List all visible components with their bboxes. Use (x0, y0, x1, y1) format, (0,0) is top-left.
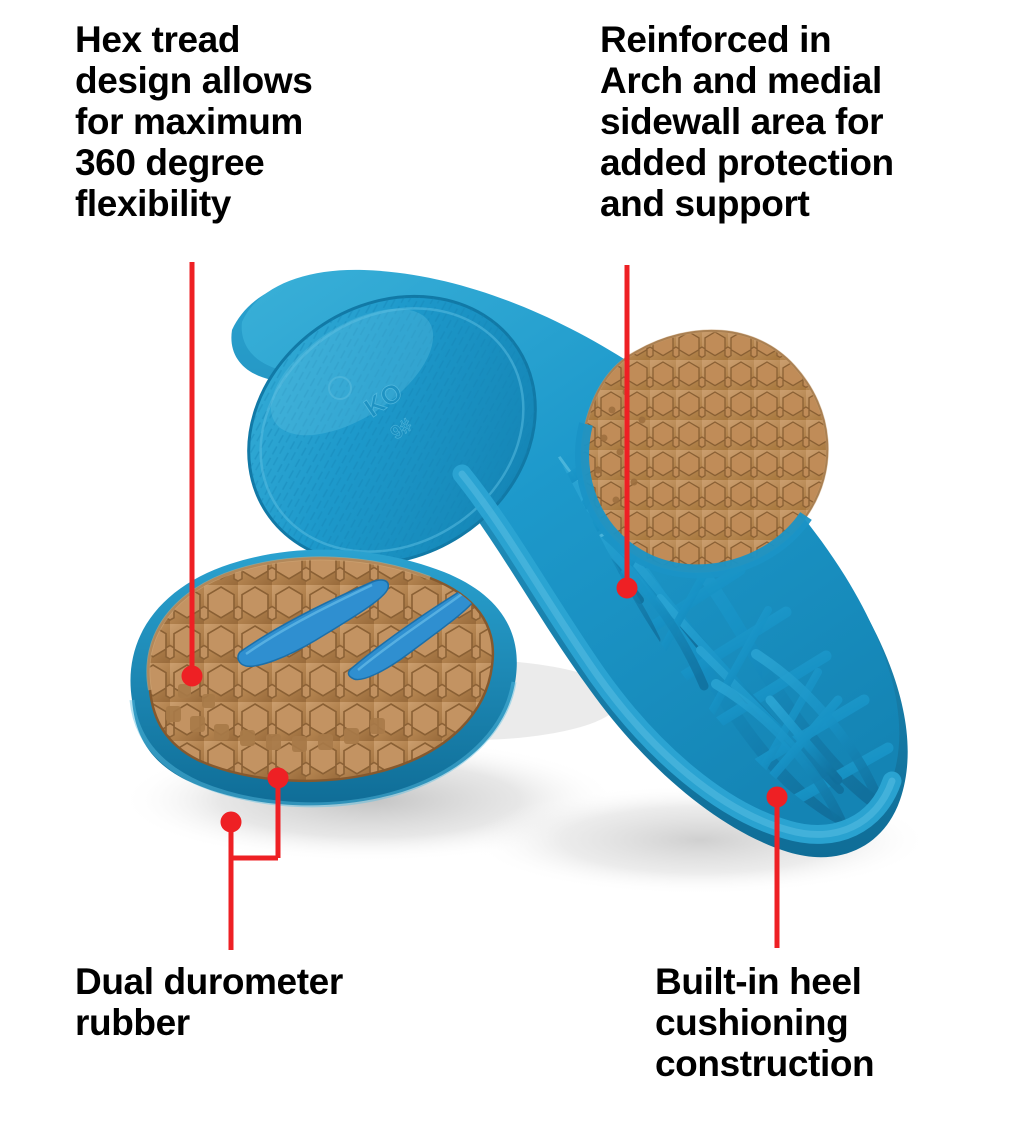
upper-toe-tread (582, 331, 827, 572)
infographic-stage: KO 9# 9 10 1/0 (0, 0, 1024, 1127)
callout-dual-durometer-text: Dual durometer rubber (75, 962, 475, 1044)
callout-heel-cushioning-text: Built-in heel cushioning construction (655, 962, 1015, 1085)
callout-hex-tread-text: Hex tread design allows for maximum 360 … (75, 20, 405, 224)
callout-reinforced-arch-text: Reinforced in Arch and medial sidewall a… (600, 20, 1000, 224)
